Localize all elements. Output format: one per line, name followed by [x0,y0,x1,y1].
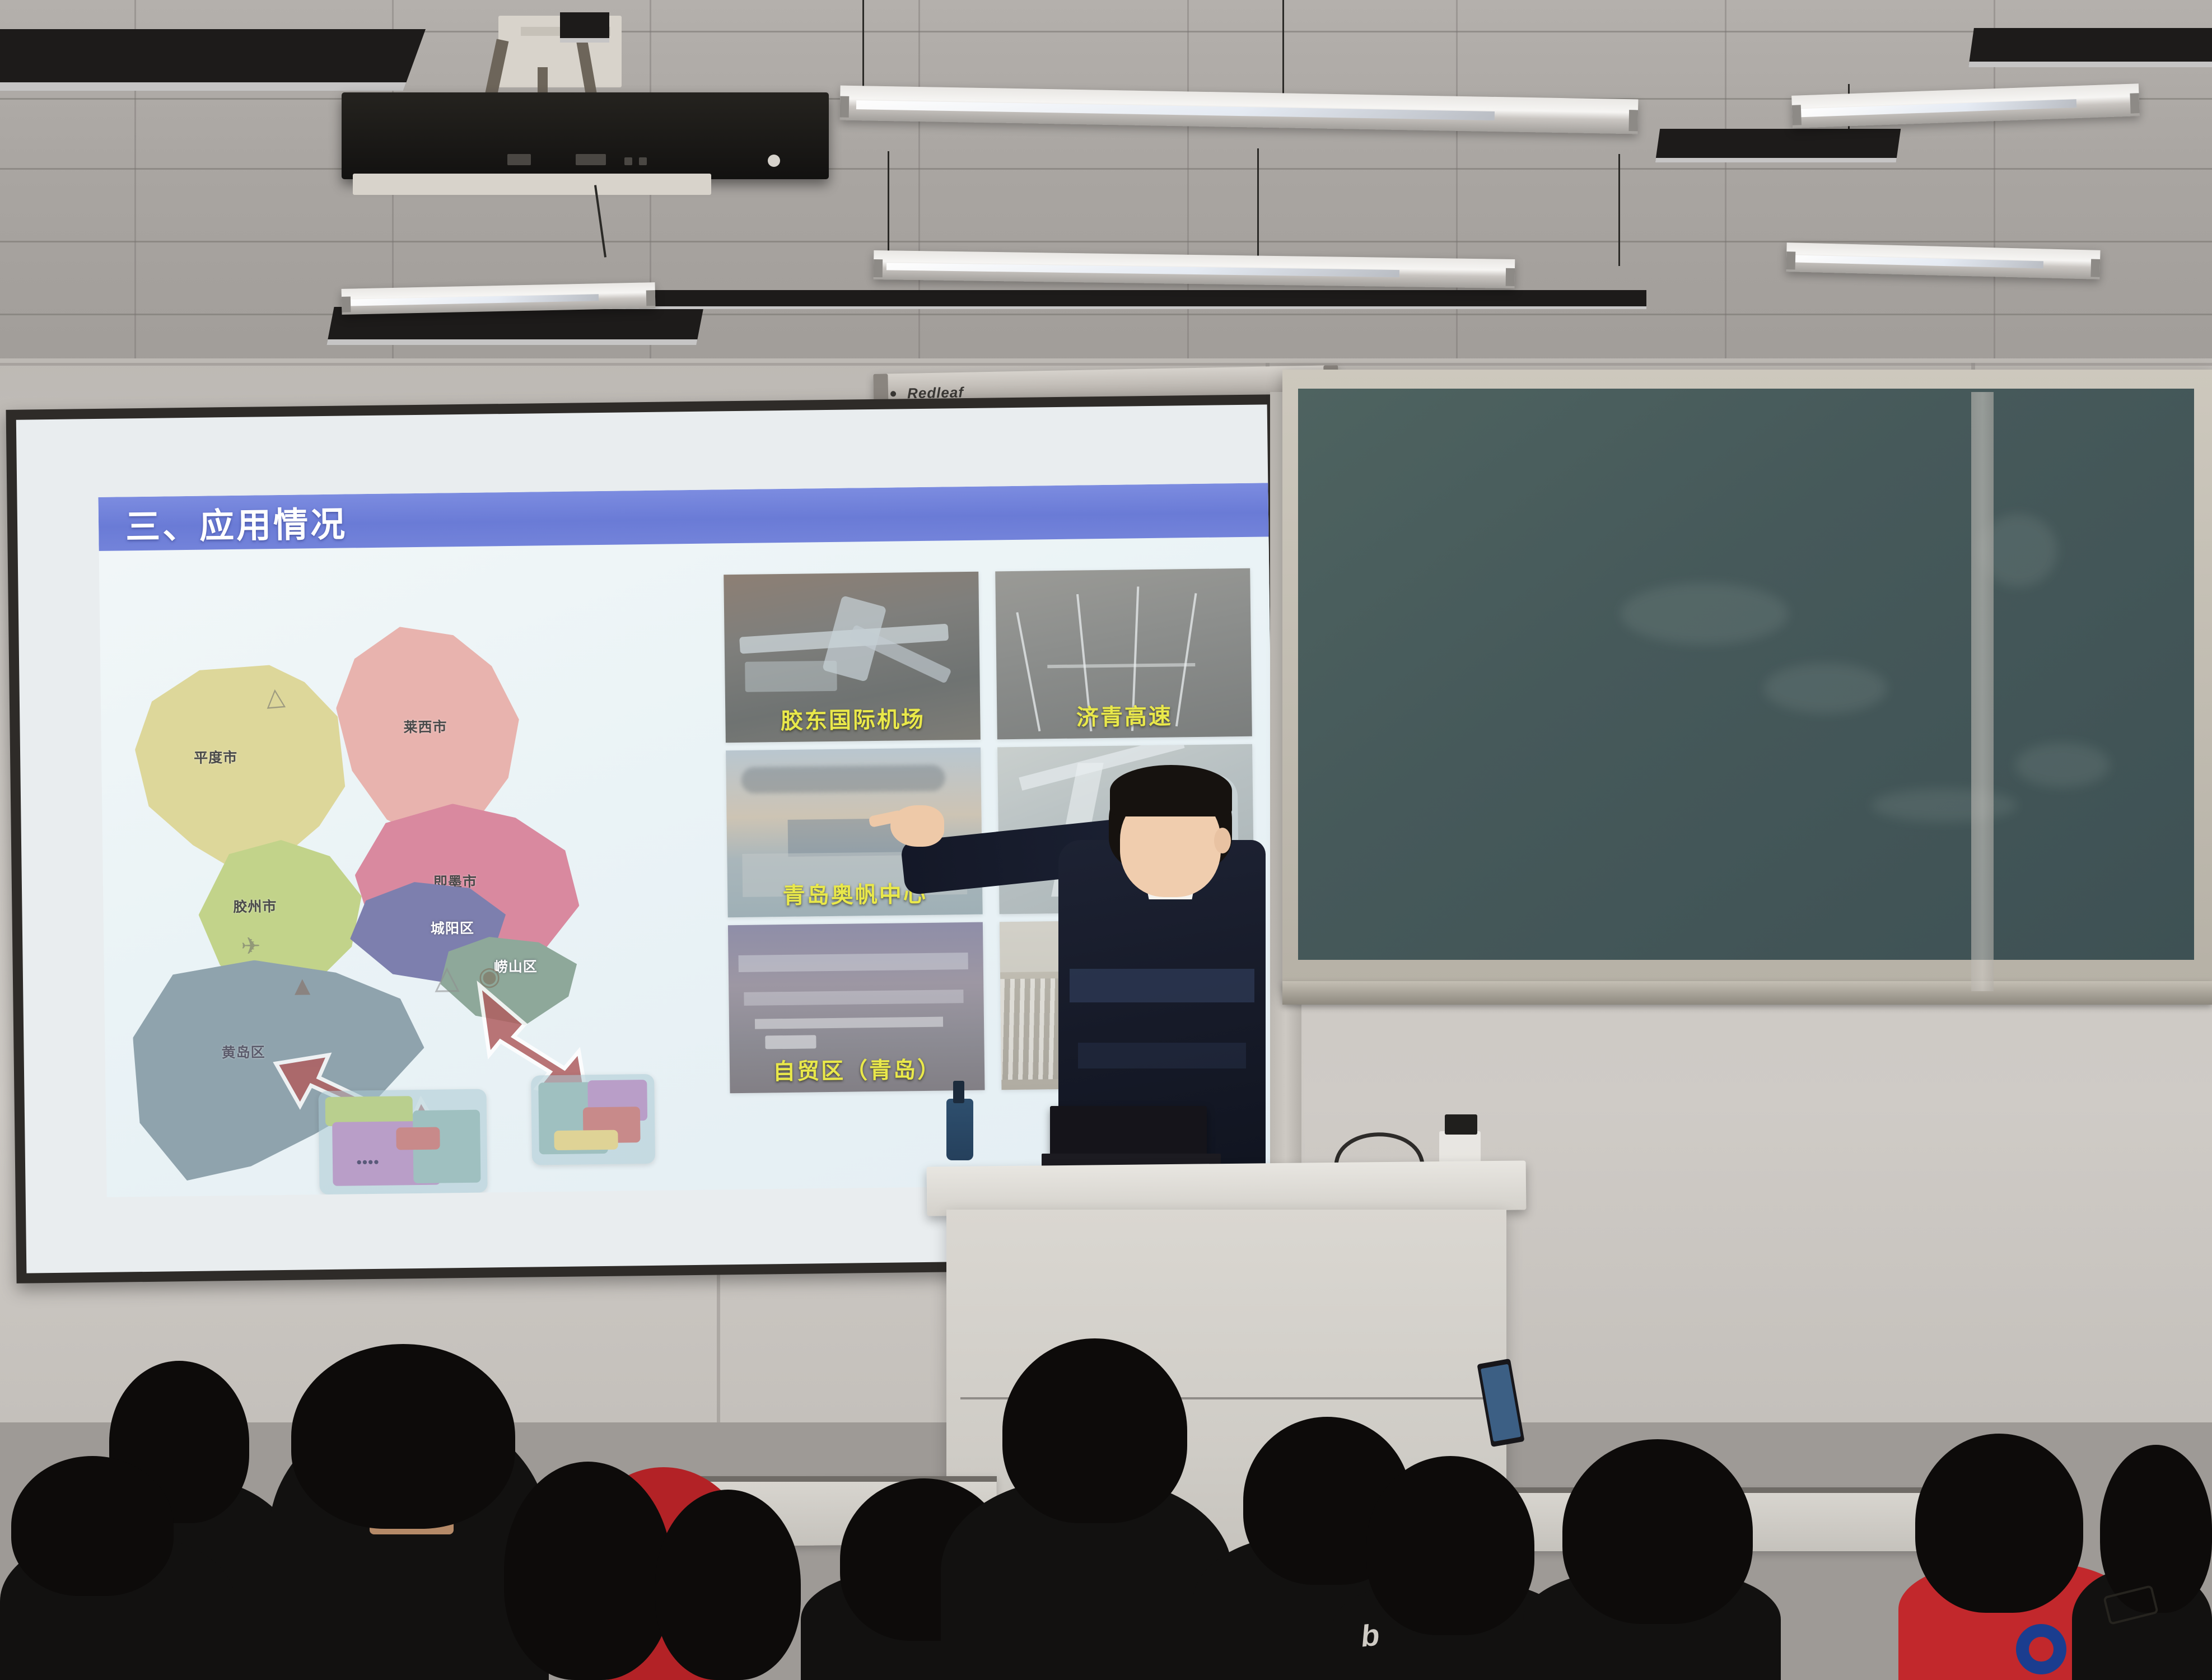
blackboard-frame [1282,370,2212,991]
water-bottle[interactable] [946,1099,973,1160]
jacket-logo [2016,1624,2066,1674]
student-head [2100,1445,2212,1613]
jar[interactable] [1439,1131,1481,1163]
map-label-huangdao: 黄岛区 [221,1041,265,1062]
fluorescent-tube-2 [874,250,1515,288]
fluorescent-tube-4 [1786,242,2100,279]
inset-map-city-core [531,1074,655,1165]
tile-expressway: 济青高速 [995,568,1252,740]
map-label-laixi: 莱西市 [403,716,447,736]
roller-brand-dot [890,391,896,396]
blackboard[interactable] [1298,389,2194,960]
fluorescent-tube-1 [840,86,1639,134]
sailboat-icon: △ [435,958,460,996]
tile-sailing-center: 青岛奥帆中心 [726,748,983,918]
wall-divider-right [1971,392,1994,991]
map-label-pingdu: 平度市 [194,746,237,767]
map-label-chengyang: 城阳区 [431,917,474,938]
fluorescent-tube-5 [1791,83,2140,128]
projector [342,92,829,179]
student-head [655,1490,801,1680]
tile-caption-expressway: 济青高速 [997,697,1252,733]
lecture-hall-scene: Redleaf 三、应用情况 平度市 △ 莱西市 [0,0,2212,1680]
chalk-tray [1282,981,2212,1005]
student-head [291,1344,515,1529]
qingdao-district-map: 平度市 △ 莱西市 即墨市 胶州市 ✈ 城阳区 [110,563,700,1192]
student-head [1915,1434,2083,1613]
highway-icon: △ [265,682,286,712]
student-head [504,1462,672,1680]
student-head [1002,1338,1187,1523]
tile-caption-free-trade-zone: 自贸区（青岛） [730,1051,985,1087]
student-head [11,1456,174,1596]
mountain-icon: ▲ [289,970,316,1002]
map-region-pingdu [134,651,355,872]
tile-airport: 胶东国际机场 [724,572,981,743]
airplane-icon: ✈ [241,932,261,959]
ceiling [0,0,2212,392]
map-label-jiaozhou: 胶州市 [233,895,277,916]
tile-caption-airport: 胶东国际机场 [725,701,981,736]
slide-title: 三、应用情况 [125,496,348,549]
cable [1333,1116,1434,1166]
jacket-text-logo: b [1359,1617,1381,1654]
inset-map-west-coast: ●●●● [318,1089,487,1195]
podium-top [927,1160,1527,1216]
student-head [1366,1456,1534,1635]
slide-title-band: 三、应用情况 [98,483,1269,551]
student-head [1562,1439,1753,1624]
tile-free-trade-zone: 自贸区（青岛） [728,922,985,1094]
